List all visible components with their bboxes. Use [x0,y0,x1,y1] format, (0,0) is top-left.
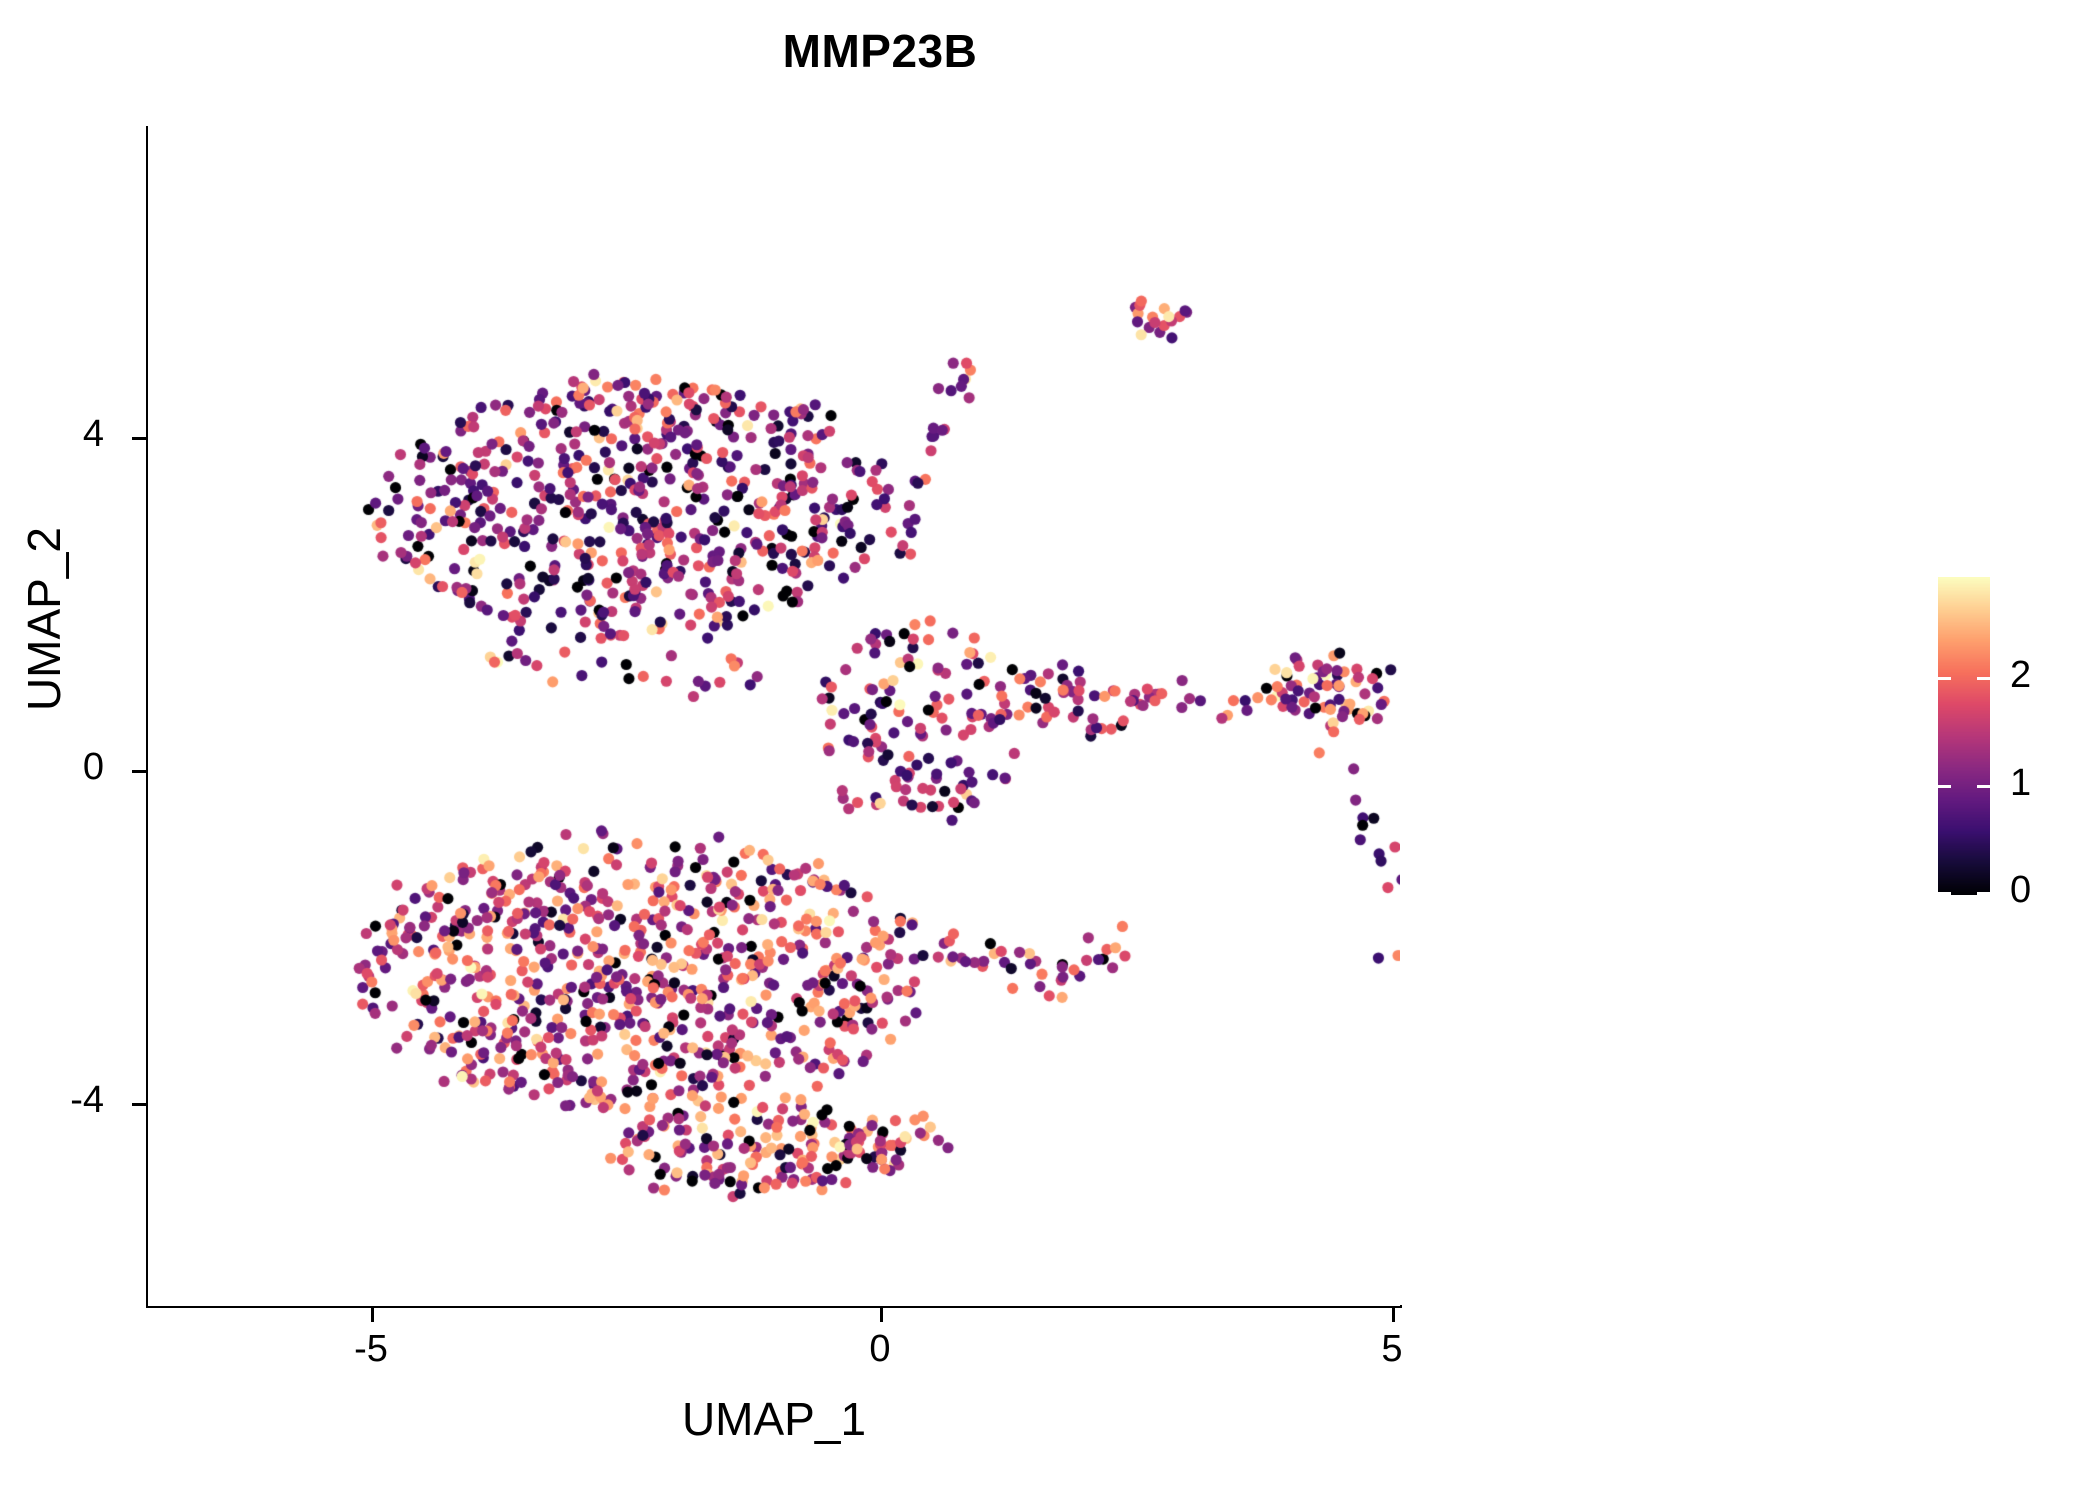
colorbar-label-2: 2 [2010,656,2080,694]
colorbar-gradient [1938,577,1990,895]
y-tick-4 [132,437,146,440]
colorbar-label-0: 0 [2010,871,2080,909]
colorbar-tick-2-left [1938,677,1951,680]
colorbar-tick-1-left [1938,785,1951,788]
colorbar-tick-2-right [1977,677,1990,680]
x-ticklabel-5: 5 [1322,1330,1462,1368]
figure-root: MMP23B 4 0 -4 -5 0 5 UMAP_1 UMAP_2 2 1 0 [0,0,2100,1500]
scatter-points-canvas [148,126,1400,1306]
x-tick-0 [880,1308,883,1322]
x-tick-neg5 [371,1308,374,1322]
x-tick-5 [1392,1308,1395,1322]
y-ticklabel-neg4: -4 [14,1081,104,1119]
x-ticklabel-neg5: -5 [301,1330,441,1368]
colorbar-tick-0-left [1938,892,1951,895]
x-axis-title: UMAP_1 [148,1392,1400,1446]
chart-title: MMP23B [0,24,1760,78]
colorbar-label-1: 1 [2010,764,2080,802]
colorbar-tick-0-right [1977,892,1990,895]
scatter-plot-panel [148,126,1400,1306]
y-tick-neg4 [132,1103,146,1106]
y-axis-title: UMAP_2 [17,339,71,899]
colorbar-legend: 2 1 0 [1938,577,2098,907]
y-tick-0 [132,770,146,773]
colorbar-tick-1-right [1977,785,1990,788]
x-ticklabel-0: 0 [810,1330,950,1368]
